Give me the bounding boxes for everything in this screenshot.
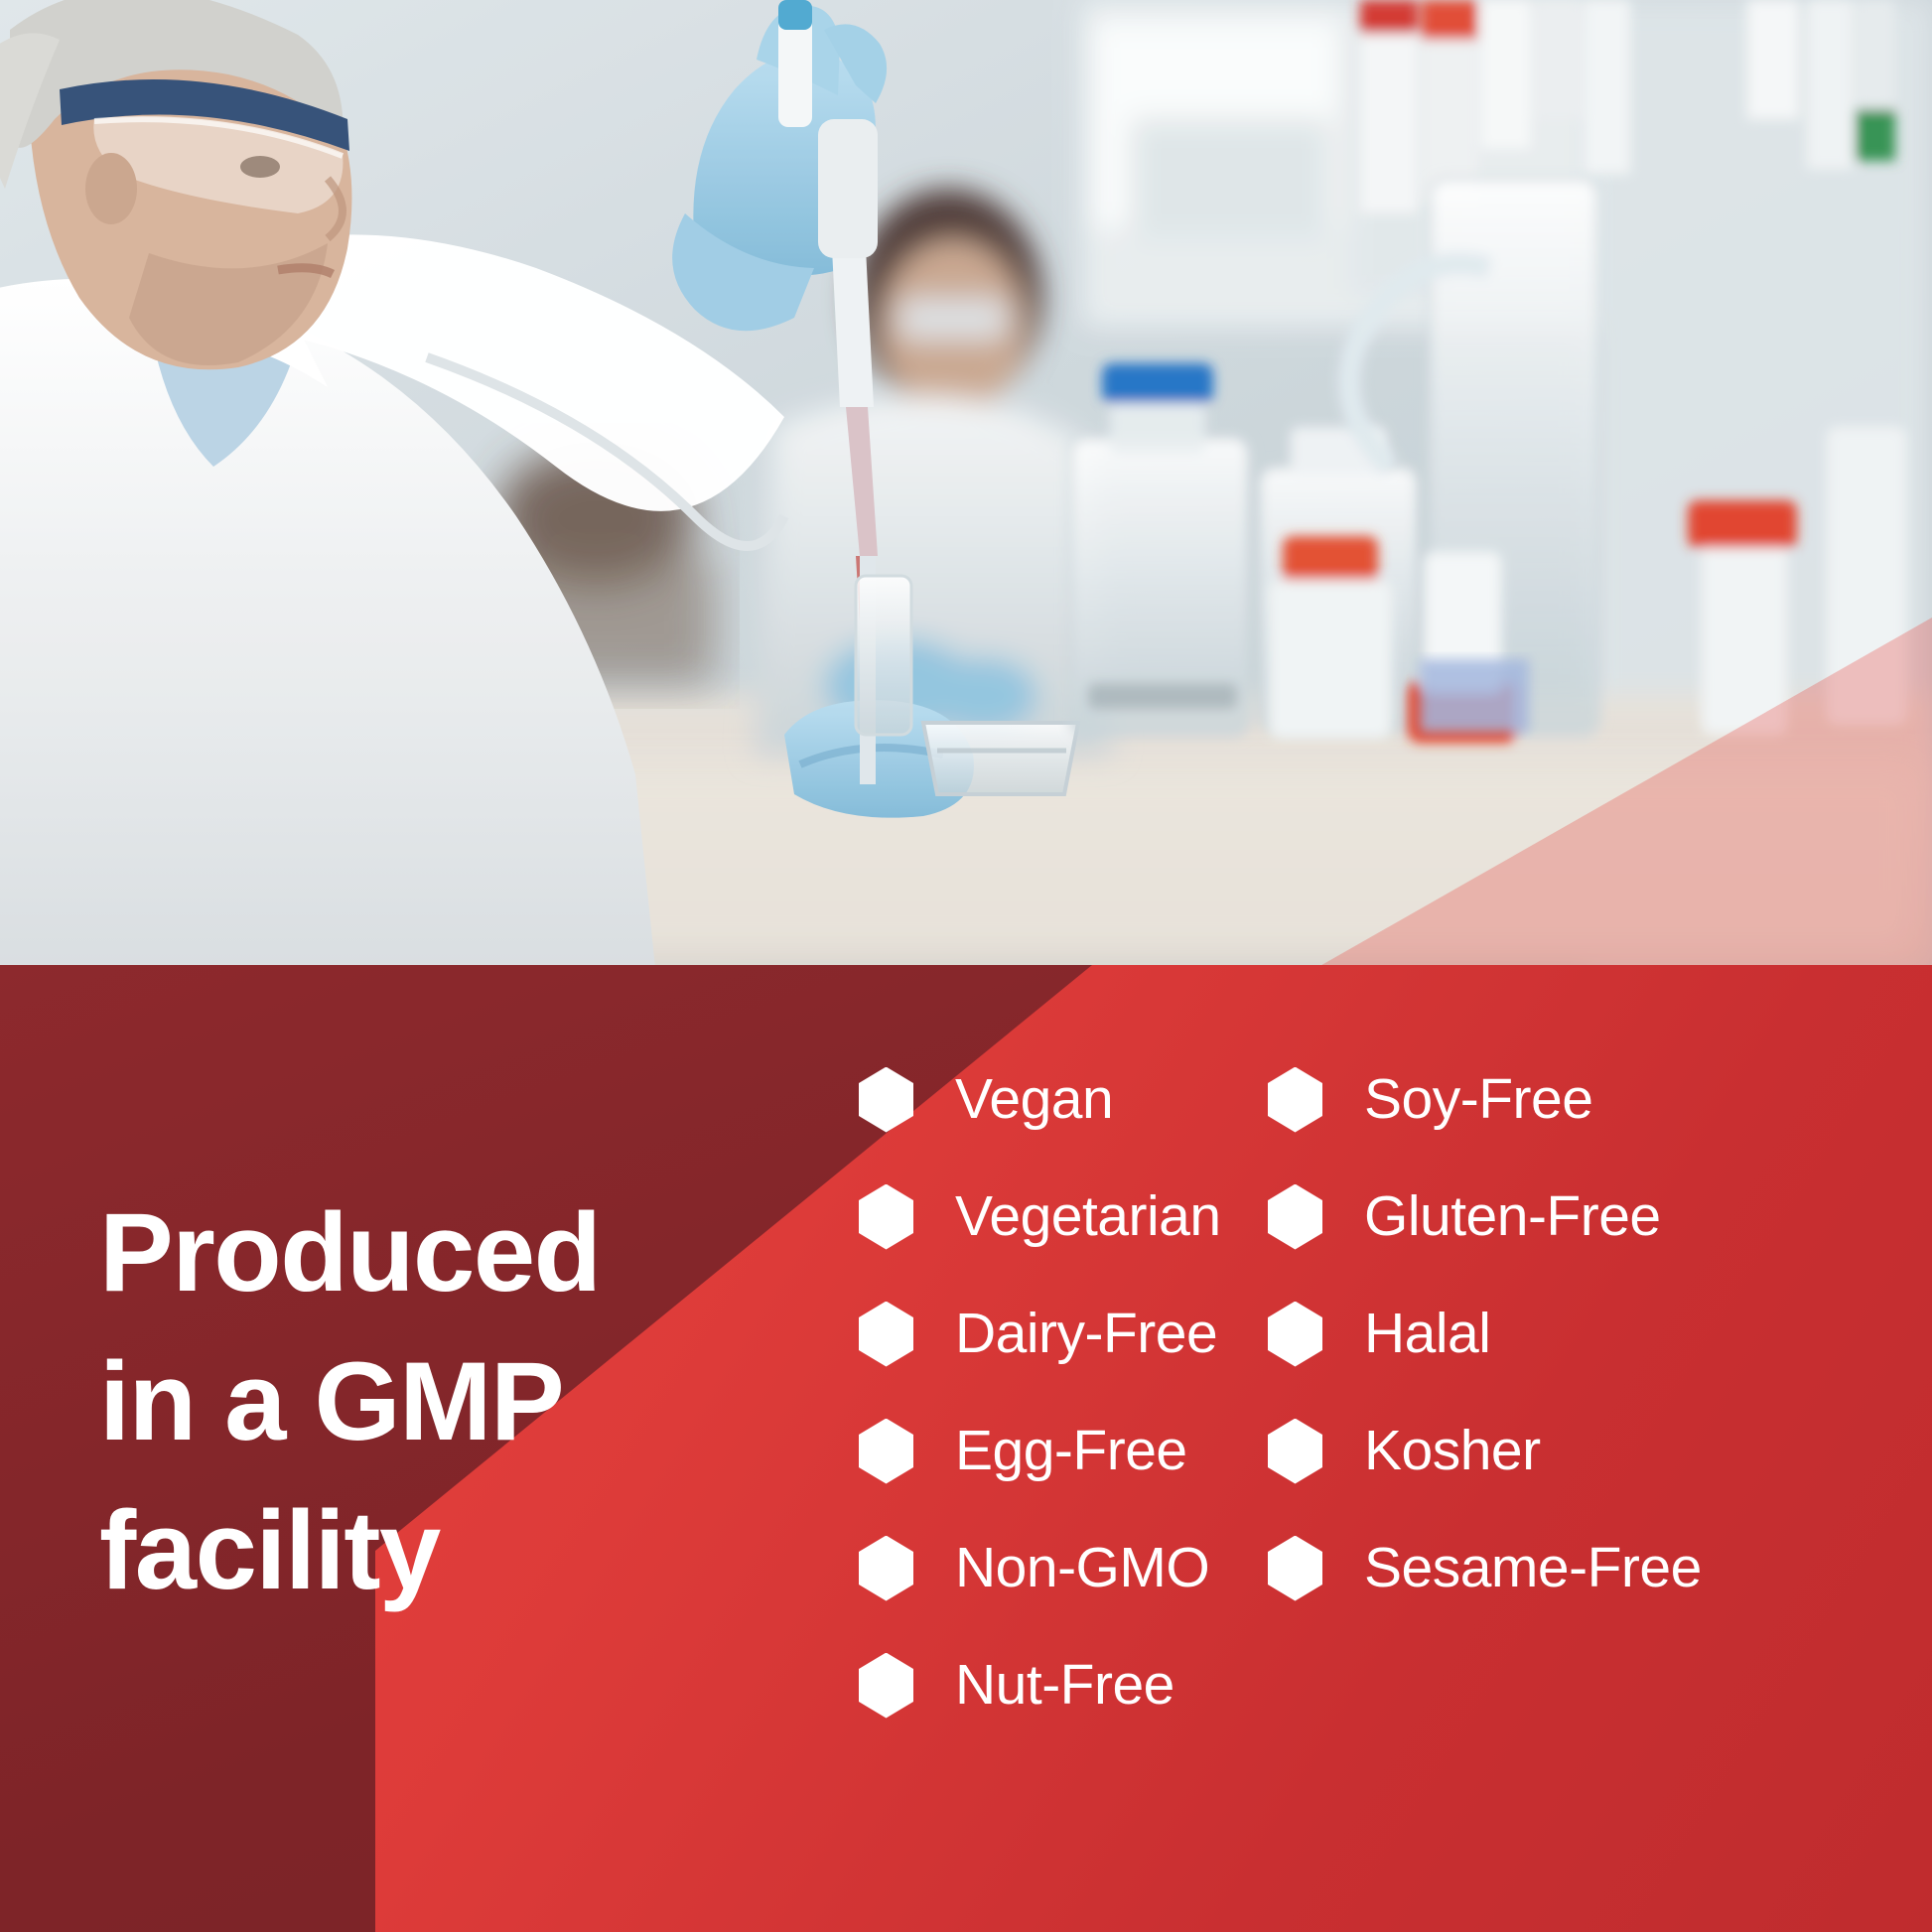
list-item: Sesame-Free bbox=[1268, 1540, 1702, 1596]
list-item: Gluten-Free bbox=[1268, 1188, 1702, 1245]
page-title: Produced in a GMP facility bbox=[99, 1178, 735, 1625]
hexagon-bullet-icon bbox=[859, 1302, 913, 1367]
lab-photo bbox=[0, 0, 1932, 968]
list-item: Egg-Free bbox=[859, 1423, 1221, 1479]
certification-label: Non-GMO bbox=[955, 1540, 1209, 1596]
certification-label: Vegetarian bbox=[955, 1188, 1221, 1245]
hexagon-bullet-icon bbox=[859, 1067, 913, 1133]
hexagon-bullet-icon bbox=[1268, 1536, 1322, 1601]
certifications-column-left: Vegan Vegetarian Dairy-Free Egg-Free Non… bbox=[859, 1071, 1221, 1774]
certification-label: Egg-Free bbox=[955, 1423, 1187, 1479]
certification-label: Soy-Free bbox=[1364, 1071, 1592, 1128]
list-item: Kosher bbox=[1268, 1423, 1702, 1479]
certification-label: Sesame-Free bbox=[1364, 1540, 1702, 1596]
list-item: Halal bbox=[1268, 1306, 1702, 1362]
certifications-column-right: Soy-Free Gluten-Free Halal Kosher Sesame… bbox=[1268, 1071, 1702, 1657]
hexagon-bullet-icon bbox=[859, 1184, 913, 1250]
certification-label: Kosher bbox=[1364, 1423, 1541, 1479]
hexagon-bullet-icon bbox=[1268, 1067, 1322, 1133]
list-item: Vegan bbox=[859, 1071, 1221, 1128]
certification-label: Dairy-Free bbox=[955, 1306, 1217, 1362]
promo-graphic: Produced in a GMP facility Vegan Vegetar… bbox=[0, 0, 1932, 1932]
list-item: Nut-Free bbox=[859, 1657, 1221, 1714]
hexagon-bullet-icon bbox=[1268, 1419, 1322, 1484]
list-item: Non-GMO bbox=[859, 1540, 1221, 1596]
certification-label: Vegan bbox=[955, 1071, 1113, 1128]
hexagon-bullet-icon bbox=[859, 1419, 913, 1484]
list-item: Dairy-Free bbox=[859, 1306, 1221, 1362]
hexagon-bullet-icon bbox=[859, 1536, 913, 1601]
certification-label: Gluten-Free bbox=[1364, 1188, 1661, 1245]
certification-label: Nut-Free bbox=[955, 1657, 1174, 1714]
hexagon-bullet-icon bbox=[1268, 1184, 1322, 1250]
list-item: Vegetarian bbox=[859, 1188, 1221, 1245]
hexagon-bullet-icon bbox=[1268, 1302, 1322, 1367]
hexagon-bullet-icon bbox=[859, 1653, 913, 1719]
certification-label: Halal bbox=[1364, 1306, 1490, 1362]
list-item: Soy-Free bbox=[1268, 1071, 1702, 1128]
